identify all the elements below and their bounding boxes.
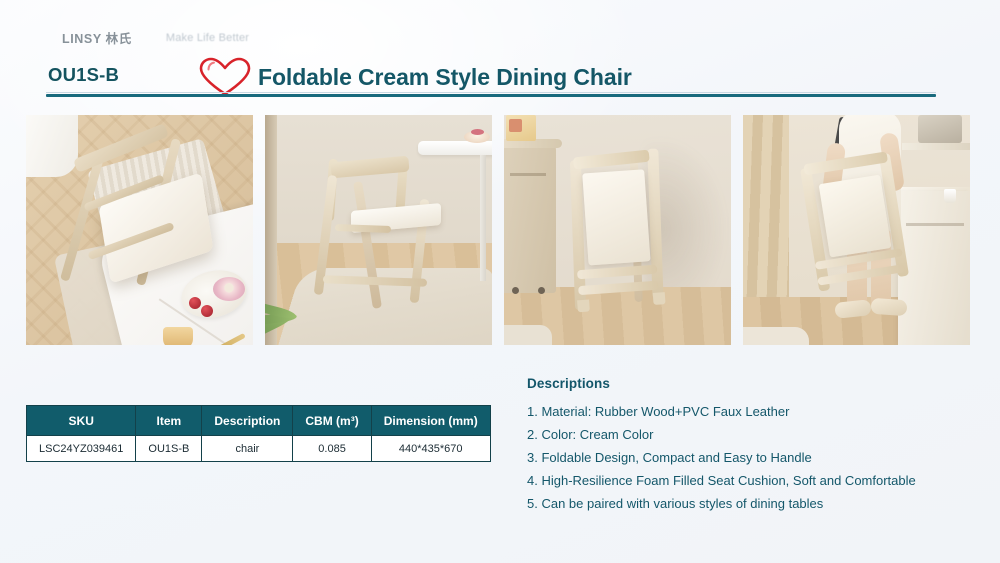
product-image-2[interactable] [265,115,492,345]
cell-description: chair [202,436,293,462]
brand-name: LINSY 林氏 [62,28,132,47]
column-header-item: Item [136,406,202,436]
page-title: Foldable Cream Style Dining Chair [198,57,632,97]
table-leg [480,155,486,281]
specification-table: SKU Item Description CBM (m³) Dimension … [26,405,491,462]
description-item-3: 3. Foldable Design, Compact and Easy to … [527,446,957,469]
brand-tagline: Make Life Better [166,32,249,44]
divider-accent-line [46,94,936,97]
description-item-5: 5. Can be paired with various styles of … [527,492,957,515]
cabinet-caster [538,287,545,294]
curtain [26,115,78,177]
coffee-machine [918,115,962,143]
descriptions-list: 1. Material: Rubber Wood+PVC Faux Leathe… [527,400,957,515]
drink-glass [163,327,193,345]
descriptions-block: Descriptions 1. Material: Rubber Wood+PV… [527,376,957,515]
chair-top-rail [573,150,650,170]
drawer-handle [906,223,964,226]
descriptions-heading: Descriptions [527,376,957,391]
chair-foot [653,292,666,305]
description-item-2: 2. Color: Cream Color [527,423,957,446]
product-code: OU1S-B [48,64,119,86]
chair-foot [577,299,590,312]
cherry [189,297,201,309]
storage-cabinet [504,143,556,293]
brand-watermark: LINSY 林氏 Make Life Better [62,28,249,47]
area-rug [743,327,809,345]
column-header-description: Description [202,406,293,436]
decor-box-label [509,119,522,132]
folded-chair [792,149,921,295]
wall-shelf [902,143,970,150]
cell-cbm: 0.085 [293,436,371,462]
product-image-3[interactable] [504,115,731,345]
curtain [743,115,789,307]
chair-seat-cushion [819,175,892,258]
column-header-cbm: CBM (m³) [293,406,371,436]
cherry [201,305,213,317]
white-side-table [418,141,492,155]
description-item-1: 1. Material: Rubber Wood+PVC Faux Leathe… [527,400,957,423]
chair-stretcher [578,281,658,296]
cabinet-caster [512,287,519,294]
divider-thin-line [46,92,936,93]
table-row: LSC24YZ039461 OU1S-B chair 0.085 440*435… [27,436,491,462]
cell-dimension: 440*435*670 [371,436,490,462]
person-sandal [870,298,907,316]
cell-item: OU1S-B [136,436,202,462]
potted-plant [265,275,309,337]
donut [213,277,245,301]
title-divider [46,92,936,97]
chair-stretcher [577,265,657,280]
product-image-gallery [26,115,970,345]
product-sheet-page: LINSY 林氏 Make Life Better OU1S-B Foldabl… [0,0,1000,563]
column-header-sku: SKU [27,406,136,436]
cell-sku: LSC24YZ039461 [27,436,136,462]
chair-stile [647,149,663,299]
folded-chair [564,142,679,311]
description-item-4: 4. High-Resilience Foam Filled Seat Cush… [527,469,957,492]
chair-seat-cushion [582,169,650,265]
area-rug [504,325,552,345]
dessert-topping [471,129,484,135]
product-image-4[interactable] [743,115,970,345]
heart-outline-icon [198,57,252,97]
product-image-1[interactable] [26,115,253,345]
cabinet-handle [510,173,546,176]
table-header-row: SKU Item Description CBM (m³) Dimension … [27,406,491,436]
page-title-text: Foldable Cream Style Dining Chair [258,64,632,91]
column-header-dimension: Dimension (mm) [371,406,490,436]
cup [944,189,956,203]
